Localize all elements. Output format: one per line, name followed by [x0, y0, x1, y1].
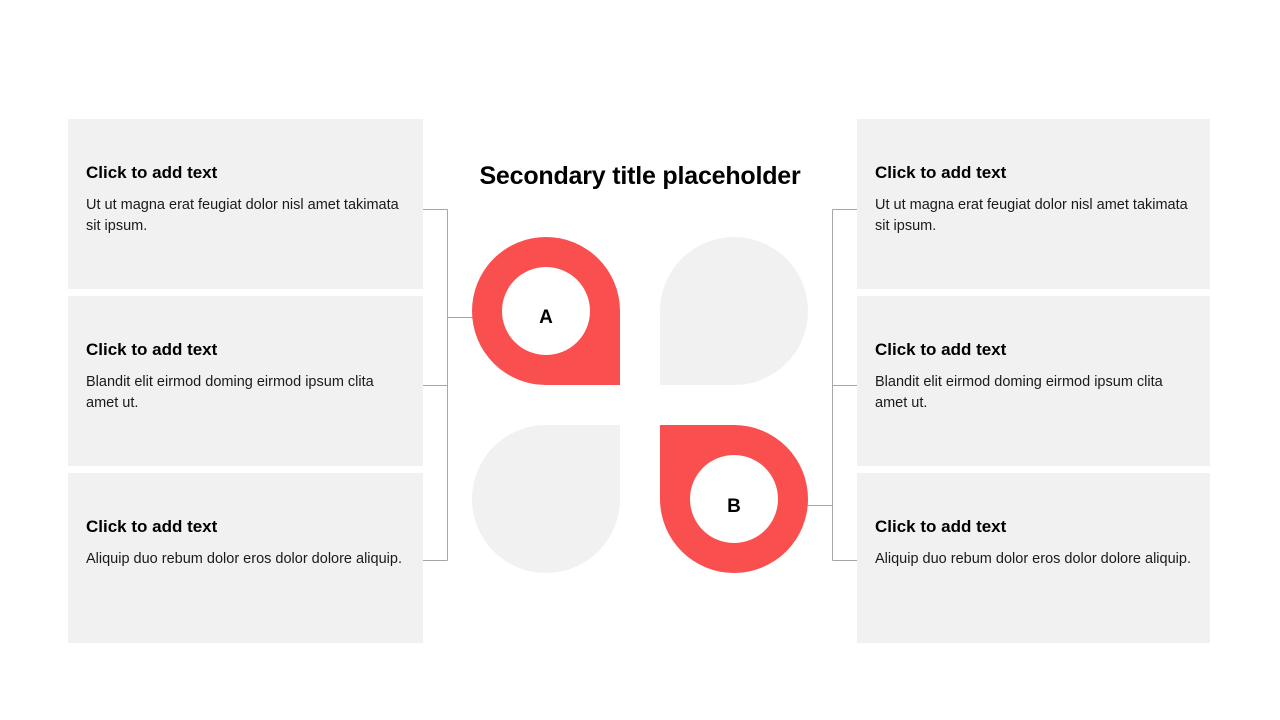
lobe-top-right-shape — [660, 237, 808, 385]
text-block-left-2[interactable]: Click to add text Blandit elit eirmod do… — [68, 296, 423, 466]
text-block-right-3[interactable]: Click to add text Aliquip duo rebum dolo… — [857, 473, 1210, 643]
text-block-left-3[interactable]: Click to add text Aliquip duo rebum dolo… — [68, 473, 423, 643]
text-block-heading: Click to add text — [86, 163, 405, 183]
text-block-heading: Click to add text — [86, 517, 405, 537]
text-block-body: Blandit elit eirmod doming eirmod ipsum … — [86, 372, 405, 414]
pinwheel-diagram — [472, 237, 808, 573]
text-block-heading: Click to add text — [875, 340, 1192, 360]
text-block-body: Aliquip duo rebum dolor eros dolor dolor… — [875, 549, 1192, 570]
text-block-left-1[interactable]: Click to add text Ut ut magna erat feugi… — [68, 119, 423, 289]
text-block-body: Ut ut magna erat feugiat dolor nisl amet… — [875, 195, 1192, 237]
text-block-body: Blandit elit eirmod doming eirmod ipsum … — [875, 372, 1192, 414]
page-title: Secondary title placeholder — [440, 161, 840, 191]
lobe-b-label: B — [714, 497, 754, 516]
slide-canvas: Secondary title placeholder Click to add… — [0, 0, 1280, 720]
text-block-body: Ut ut magna erat feugiat dolor nisl amet… — [86, 195, 405, 237]
lobe-bottom-left-shape — [472, 425, 620, 573]
text-block-right-1[interactable]: Click to add text Ut ut magna erat feugi… — [857, 119, 1210, 289]
text-block-heading: Click to add text — [875, 163, 1192, 183]
text-block-heading: Click to add text — [875, 517, 1192, 537]
lobe-a-label: A — [526, 308, 566, 327]
text-block-body: Aliquip duo rebum dolor eros dolor dolor… — [86, 549, 405, 570]
text-block-heading: Click to add text — [86, 340, 405, 360]
text-block-right-2[interactable]: Click to add text Blandit elit eirmod do… — [857, 296, 1210, 466]
